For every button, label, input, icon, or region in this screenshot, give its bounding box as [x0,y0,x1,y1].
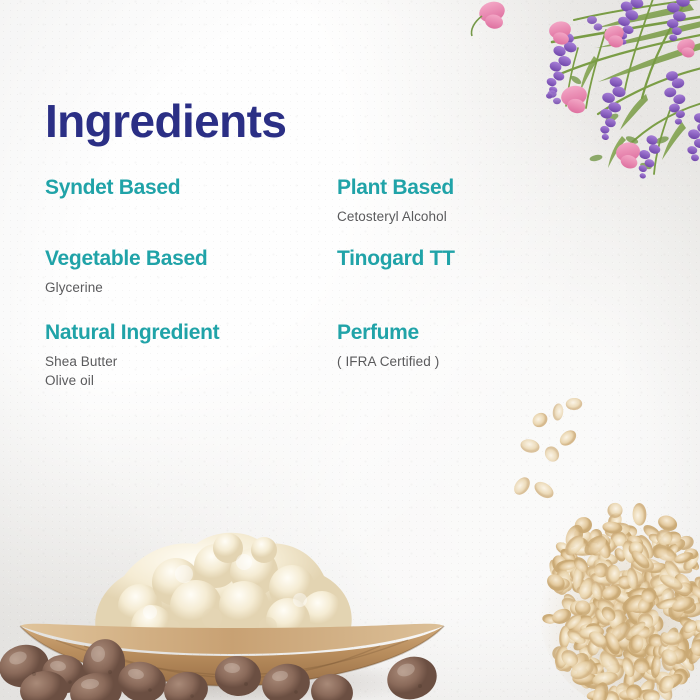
ingredient-item-vegetable-based: Vegetable Based Glycerine [45,247,335,297]
ingredient-subline: Glycerine [45,278,335,297]
ingredient-heading: Vegetable Based [45,247,335,271]
ingredient-item-syndet-based: Syndet Based [45,176,335,200]
ingredient-item-perfume: Perfume ( IFRA Certified ) [337,321,627,371]
ingredient-item-natural-ingredient: Natural Ingredient Shea Butter Olive oil [45,321,335,390]
ingredient-sublines: Cetosteryl Alcohol [337,207,627,226]
ingredient-item-plant-based: Plant Based Cetosteryl Alcohol [337,176,627,226]
ingredients-poster: Ingredients Syndet Based Vegetable Based… [0,0,700,700]
ingredient-subline: Cetosteryl Alcohol [337,207,627,226]
ingredient-subline: Shea Butter [45,352,335,371]
ingredient-heading: Syndet Based [45,176,335,200]
ingredient-heading: Plant Based [337,176,627,200]
ingredient-sublines: Glycerine [45,278,335,297]
ingredient-sublines: Shea Butter Olive oil [45,352,335,390]
ingredient-item-tinogard-tt: Tinogard TT [337,247,627,271]
ingredient-subline: ( IFRA Certified ) [337,352,627,371]
ingredient-heading: Perfume [337,321,627,345]
ingredient-subline: Olive oil [45,371,335,390]
ingredient-sublines: ( IFRA Certified ) [337,352,627,371]
page-title: Ingredients [45,98,286,144]
text-content: Ingredients Syndet Based Vegetable Based… [0,0,700,700]
ingredient-heading: Natural Ingredient [45,321,335,345]
ingredient-heading: Tinogard TT [337,247,627,271]
